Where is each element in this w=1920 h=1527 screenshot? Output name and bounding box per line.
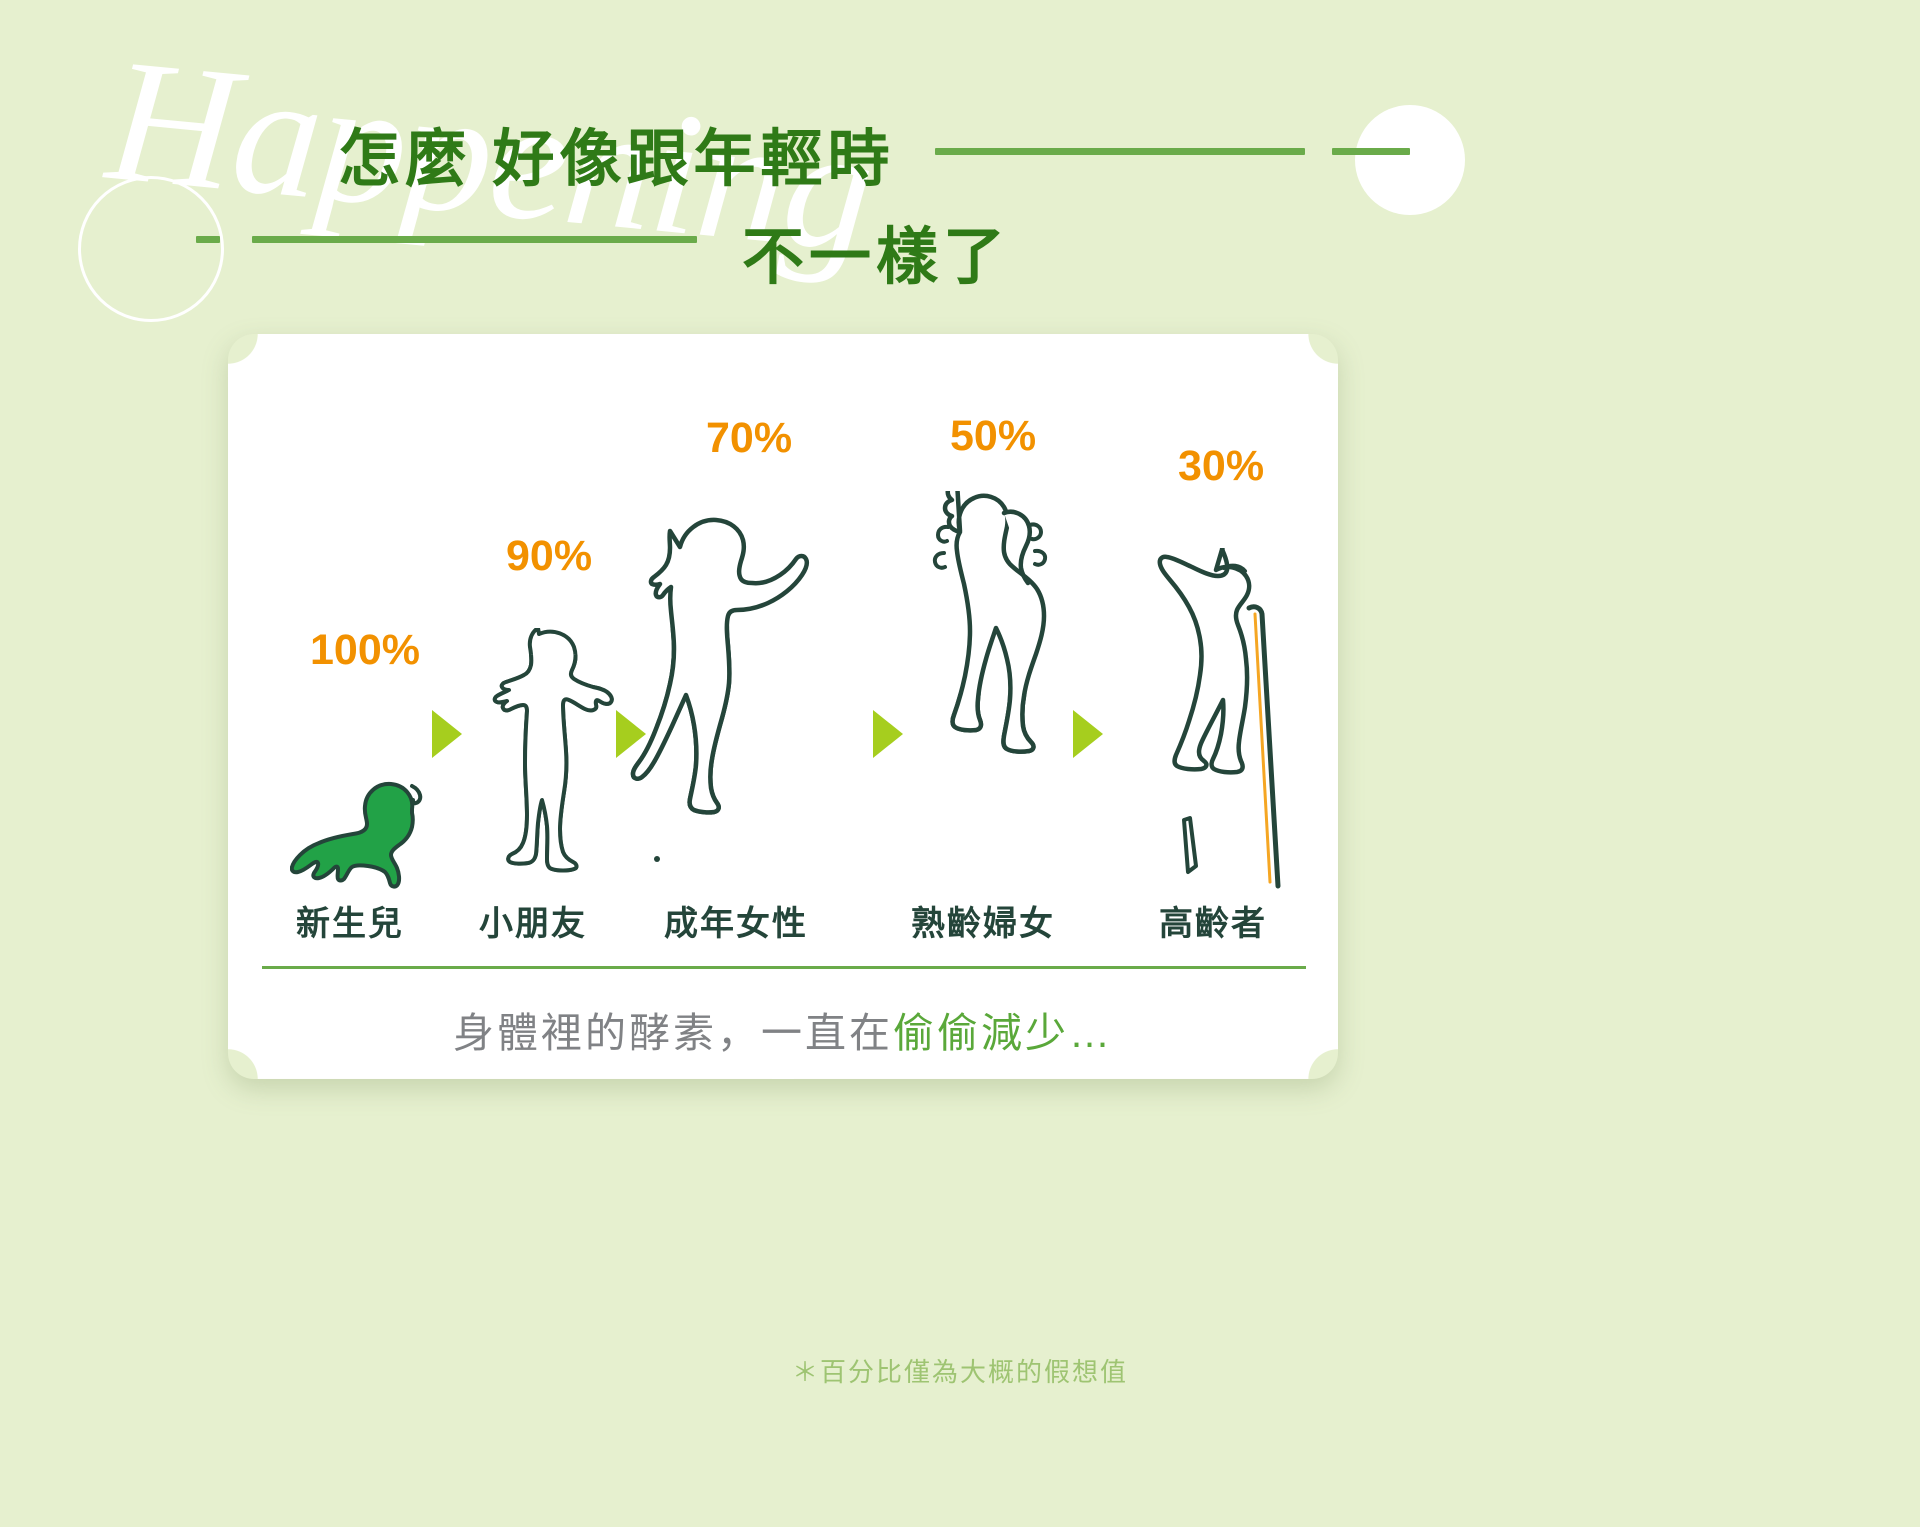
figure-child bbox=[476, 628, 626, 901]
child-standing-icon bbox=[476, 628, 626, 896]
decorative-rule-mid-dash bbox=[196, 236, 220, 243]
arrow-mature-to-elderly bbox=[1073, 710, 1103, 758]
figure-label-child: 小朋友 bbox=[453, 896, 613, 945]
percent-label-elderly: 30% bbox=[1178, 442, 1264, 491]
figure-mature-woman bbox=[896, 491, 1076, 901]
decorative-circle-outline bbox=[78, 176, 224, 322]
baby-crawling-icon bbox=[290, 776, 440, 896]
arrow-newborn-to-child bbox=[432, 710, 462, 758]
figure-label-newborn: 新生兒 bbox=[270, 896, 430, 945]
percent-label-adult: 70% bbox=[706, 414, 792, 463]
decorative-rule-mid-long bbox=[252, 236, 697, 243]
percent-label-mature: 50% bbox=[950, 412, 1036, 461]
elderly-person-cane-icon bbox=[1128, 548, 1303, 896]
figure-elderly bbox=[1128, 548, 1303, 901]
figure-label-adult: 成年女性 bbox=[636, 896, 836, 945]
footnote: ＊百分比僅為大概的假想值 bbox=[0, 1352, 1920, 1389]
percent-label-newborn: 100% bbox=[310, 626, 420, 675]
decorative-rule-top-short bbox=[1332, 148, 1410, 155]
figure-adult-woman bbox=[628, 511, 818, 901]
decorative-circle-filled bbox=[1355, 105, 1465, 215]
tagline: 身體裡的酵素，一直在偷偷減少… bbox=[228, 999, 1338, 1059]
adult-woman-icon bbox=[628, 511, 818, 896]
enzyme-decline-chart: 100% 90% 70% 50% 30% bbox=[228, 334, 1338, 1079]
tagline-plain: 身體裡的酵素，一直在 bbox=[453, 1010, 893, 1056]
card-divider bbox=[262, 966, 1306, 969]
figure-newborn bbox=[290, 776, 440, 901]
percent-label-child: 90% bbox=[506, 532, 592, 581]
figure-label-mature: 熟齡婦女 bbox=[883, 896, 1083, 945]
tagline-highlight: 偷偷減少… bbox=[893, 1010, 1113, 1056]
figure-label-elderly: 高齡者 bbox=[1128, 896, 1298, 945]
mature-woman-icon bbox=[896, 491, 1076, 896]
decorative-rule-top-long bbox=[935, 148, 1305, 155]
